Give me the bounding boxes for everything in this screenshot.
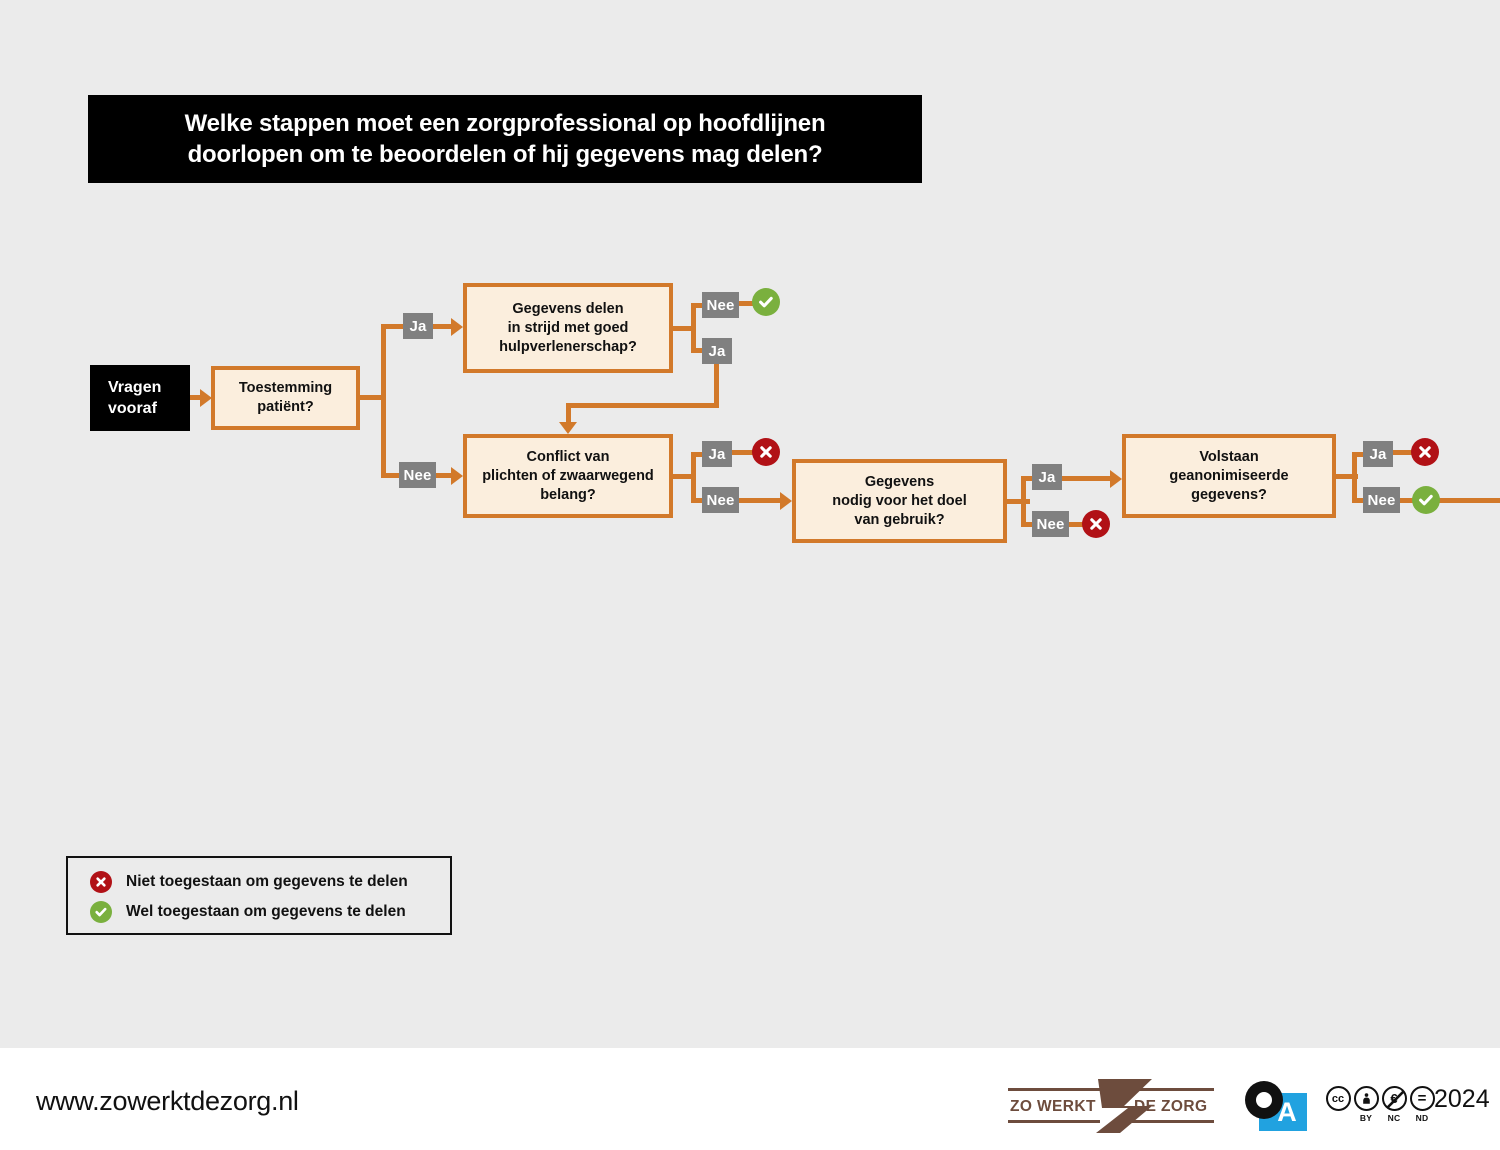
- gegevens-nodig-line-1: Gegevens: [832, 473, 967, 492]
- arrow-conflict-nee: [780, 492, 792, 510]
- edge-label-conflict-ja: Ja: [702, 441, 732, 467]
- flow-node-start[interactable]: Vragen vooraf: [90, 365, 190, 431]
- edge-geanonimiseerd-nee-continues: [1438, 498, 1500, 503]
- cc-sub-nd: ND: [1416, 1113, 1429, 1123]
- edge-conflict-trunk: [691, 452, 696, 500]
- page-title-line-1: Welke stappen moet een zorgprofessional …: [185, 108, 826, 139]
- toestemming-line-1: Toestemming: [239, 379, 332, 398]
- gegevens-nodig-line-2: nodig voor het doel: [832, 492, 967, 511]
- edge-toestemming-ja-1: [381, 324, 403, 329]
- cc-badge-nc: € NC: [1380, 1086, 1408, 1123]
- cc-badge-nd: = ND: [1408, 1086, 1436, 1123]
- arrow-start-to-toestemming: [200, 389, 212, 407]
- geanonimiseerd-line-2: geanonimiseerde: [1169, 467, 1288, 486]
- edge-gegevens-nodig-out: [1007, 499, 1030, 504]
- person-icon: [1354, 1086, 1379, 1111]
- no-commercial-icon: €: [1382, 1086, 1407, 1111]
- zo-werkt-de-zorg-logo[interactable]: ZO WERKT DE ZORG: [1006, 1080, 1216, 1132]
- edge-hulpverlenerschap-ja-2: [714, 364, 719, 407]
- flow-node-toestemming[interactable]: Toestemming patiënt?: [211, 366, 360, 430]
- result-allowed-hulpverlenerschap: [752, 288, 780, 316]
- edge-hulpverlenerschap-ja-3: [566, 403, 719, 408]
- hulpverlenerschap-line-1: Gegevens delen: [499, 300, 637, 319]
- edge-label-hulpverlenerschap-ja: Ja: [702, 338, 732, 364]
- arrow-toestemming-ja: [451, 318, 463, 336]
- hulpverlenerschap-line-3: hulpverlenerschap?: [499, 338, 637, 357]
- edge-gegevens-nodig-ja-2: [1062, 476, 1116, 481]
- open-access-logo: A: [1245, 1081, 1307, 1131]
- check-circle-icon: [90, 901, 112, 923]
- hulpverlenerschap-line-2: in strijd met goed: [499, 319, 637, 338]
- arrow-hulpverlenerschap-ja: [559, 422, 577, 434]
- flow-node-gegevens-nodig[interactable]: Gegevens nodig voor het doel van gebruik…: [792, 459, 1007, 543]
- edge-label-toestemming-nee: Nee: [399, 462, 436, 488]
- cross-circle-icon: [90, 871, 112, 893]
- logo-rule-bottom-left: [1008, 1120, 1100, 1123]
- edge-label-geanonimiseerd-nee: Nee: [1363, 487, 1400, 513]
- edge-label-gegevens-nodig-ja: Ja: [1032, 464, 1062, 490]
- edge-conflict-nee-2: [739, 498, 786, 503]
- gegevens-nodig-line-3: van gebruik?: [832, 511, 967, 530]
- open-access-ring-icon: [1245, 1081, 1283, 1119]
- edge-gegevens-nodig-trunk: [1021, 476, 1026, 524]
- page-title-line-2: doorlopen om te beoordelen of hij gegeve…: [185, 139, 826, 170]
- no-derivatives-icon: =: [1410, 1086, 1435, 1111]
- conflict-line-1: Conflict van: [482, 448, 654, 467]
- geanonimiseerd-line-3: gegevens?: [1169, 486, 1288, 505]
- edge-label-toestemming-ja: Ja: [403, 313, 433, 339]
- legend: Niet toegestaan om gegevens te delen Wel…: [66, 856, 452, 935]
- toestemming-line-2: patiënt?: [239, 398, 332, 417]
- start-label-line-2: vooraf: [108, 398, 161, 419]
- legend-item-allowed: Wel toegestaan om gegevens te delen: [90, 897, 450, 927]
- conflict-line-3: belang?: [482, 486, 654, 505]
- result-denied-geanonimiseerd: [1411, 438, 1439, 466]
- cc-badge-cc: cc: [1324, 1086, 1352, 1113]
- edge-geanonimiseerd-ja-2: [1393, 450, 1413, 455]
- cc-sub-by: BY: [1360, 1113, 1372, 1123]
- edge-label-geanonimiseerd-ja: Ja: [1363, 441, 1393, 467]
- legend-label-denied: Niet toegestaan om gegevens te delen: [126, 873, 408, 891]
- result-allowed-geanonimiseerd: [1412, 486, 1440, 514]
- logo-rule-top-left: [1008, 1088, 1100, 1091]
- edge-label-gegevens-nodig-nee: Nee: [1032, 511, 1069, 537]
- result-denied-gegevens-nodig: [1082, 510, 1110, 538]
- edge-label-hulpverlenerschap-nee: Nee: [702, 292, 739, 318]
- creative-commons-badges: cc BY € NC = ND: [1324, 1086, 1436, 1123]
- footer-website-link[interactable]: www.zowerktdezorg.nl: [36, 1086, 299, 1117]
- logo-word-left: ZO WERKT: [1010, 1098, 1096, 1116]
- edge-toestemming-nee-1: [381, 473, 400, 478]
- edge-toestemming-trunk: [381, 324, 386, 476]
- conflict-line-2: plichten of zwaarwegend: [482, 467, 654, 486]
- start-label-line-1: Vragen: [108, 377, 161, 398]
- cc-sub-nc: NC: [1388, 1113, 1401, 1123]
- edge-label-conflict-nee: Nee: [702, 487, 739, 513]
- edge-geanonimiseerd-trunk: [1352, 452, 1357, 500]
- edge-hulpverlenerschap-trunk: [691, 303, 696, 353]
- flow-node-goed-hulpverlenerschap[interactable]: Gegevens delen in strijd met goed hulpve…: [463, 283, 673, 373]
- cc-badge-by: BY: [1352, 1086, 1380, 1123]
- cc-icon: cc: [1326, 1086, 1351, 1111]
- legend-item-denied: Niet toegestaan om gegevens te delen: [90, 867, 450, 897]
- legend-label-allowed: Wel toegestaan om gegevens te delen: [126, 903, 406, 921]
- geanonimiseerd-line-1: Volstaan: [1169, 448, 1288, 467]
- flow-node-geanonimiseerde-gegevens[interactable]: Volstaan geanonimiseerde gegevens?: [1122, 434, 1336, 518]
- arrow-gegevens-nodig-ja: [1110, 470, 1122, 488]
- arrow-toestemming-nee: [451, 467, 463, 485]
- copyright-year: 2024: [1434, 1085, 1490, 1114]
- page-title: Welke stappen moet een zorgprofessional …: [88, 95, 922, 183]
- result-denied-conflict: [752, 438, 780, 466]
- logo-z-mark: [1094, 1076, 1156, 1136]
- flow-node-conflict-plichten[interactable]: Conflict van plichten of zwaarwegend bel…: [463, 434, 673, 518]
